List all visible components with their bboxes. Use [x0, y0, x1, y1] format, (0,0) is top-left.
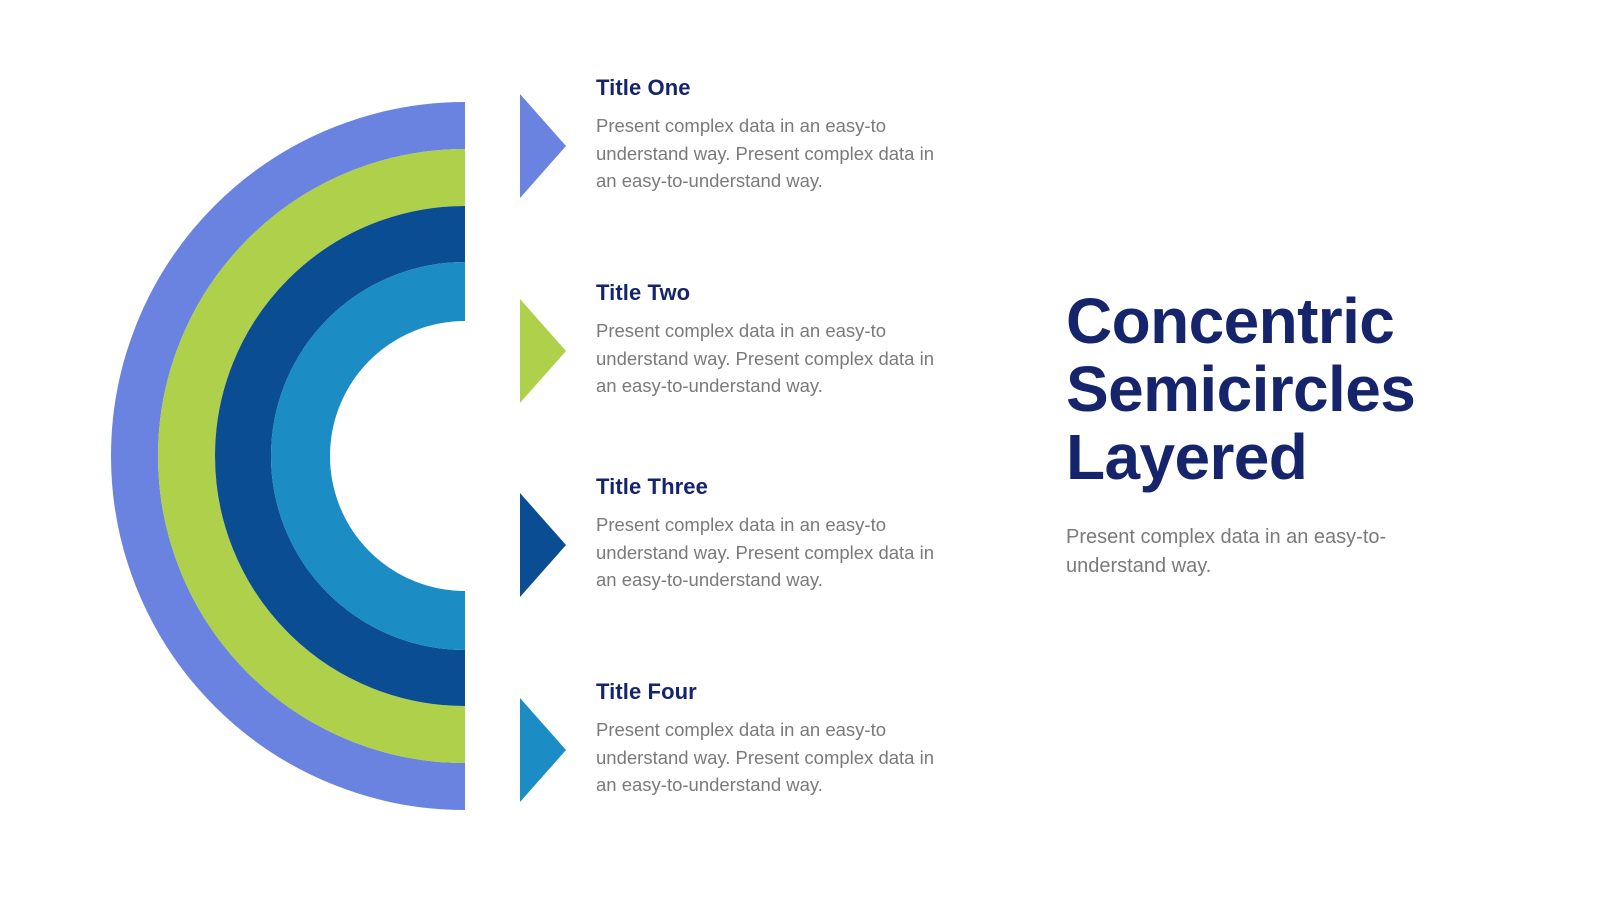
item-description: Present complex data in an easy-to under… [596, 112, 956, 194]
page-title: ConcentricSemicirclesLayered [1066, 288, 1486, 491]
page-title-line-2: Semicircles [1066, 353, 1415, 425]
item-text-block: Title One Present complex data in an eas… [596, 76, 990, 194]
item-description: Present complex data in an easy-to under… [596, 716, 956, 798]
items-column: Title One Present complex data in an eas… [520, 76, 990, 836]
item-description: Present complex data in an easy-to under… [596, 317, 956, 399]
item-title: Title One [596, 76, 990, 100]
concentric-semicircles-graphic [60, 70, 490, 860]
arrow-right-icon [520, 94, 566, 198]
item-text-block: Title Two Present complex data in an eas… [596, 281, 990, 399]
page-title-line-3: Layered [1066, 421, 1307, 493]
item-text-block: Title Four Present complex data in an ea… [596, 680, 990, 798]
item-title: Title Three [596, 475, 990, 499]
item-description: Present complex data in an easy-to under… [596, 511, 956, 593]
heading-column: ConcentricSemicirclesLayered Present com… [1066, 288, 1486, 580]
list-item[interactable]: Title Four Present complex data in an ea… [520, 680, 990, 802]
list-item[interactable]: Title One Present complex data in an eas… [520, 76, 990, 198]
item-text-block: Title Three Present complex data in an e… [596, 475, 990, 593]
ring-4-lightblue-arc [301, 292, 491, 621]
arrow-right-icon [520, 299, 566, 403]
item-title: Title Two [596, 281, 990, 305]
list-item[interactable]: Title Three Present complex data in an e… [520, 475, 990, 597]
infographic-slide: Title One Present complex data in an eas… [0, 0, 1620, 911]
arrow-right-icon [520, 698, 566, 802]
item-title: Title Four [596, 680, 990, 704]
page-title-line-1: Concentric [1066, 285, 1394, 357]
arrow-right-icon [520, 493, 566, 597]
list-item[interactable]: Title Two Present complex data in an eas… [520, 281, 990, 403]
page-subtitle: Present complex data in an easy-to-under… [1066, 523, 1456, 580]
